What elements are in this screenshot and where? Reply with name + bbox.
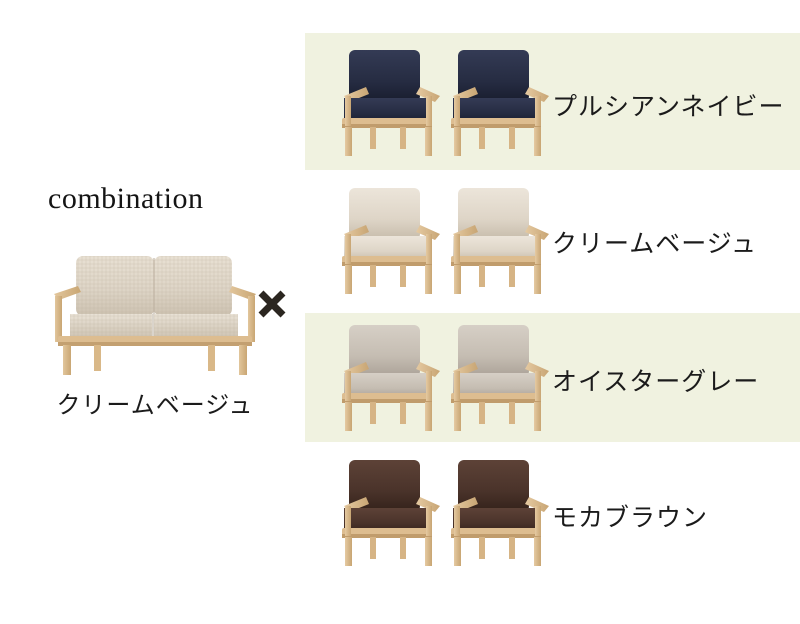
page-title: combination xyxy=(48,182,203,216)
chair-left xyxy=(342,460,440,566)
chair-left xyxy=(342,188,440,294)
chair-right xyxy=(451,188,549,294)
sofa-image xyxy=(48,250,263,380)
chair-pair xyxy=(330,452,540,574)
base-product-color-label: クリームベージュ xyxy=(40,385,270,420)
chair-pair xyxy=(330,317,540,439)
chair-right xyxy=(451,460,549,566)
chair-left xyxy=(342,50,440,156)
base-product-panel: combination xyxy=(0,0,305,624)
sofa-frame xyxy=(58,336,252,375)
variant-label: モカブラウン xyxy=(552,498,708,534)
sofa-backrest xyxy=(76,256,232,316)
chair-right xyxy=(451,325,549,431)
sofa-illustration xyxy=(48,250,263,380)
variant-label: プルシアンネイビー xyxy=(552,87,785,123)
multiply-icon xyxy=(256,288,288,320)
chair-pair xyxy=(330,180,540,302)
chair-right xyxy=(451,50,549,156)
chair-left xyxy=(342,325,440,431)
chair-pair xyxy=(330,42,540,164)
variant-label: オイスターグレー xyxy=(552,362,759,398)
variant-label: クリームベージュ xyxy=(552,224,757,260)
combination-figure: combination xyxy=(0,0,800,624)
